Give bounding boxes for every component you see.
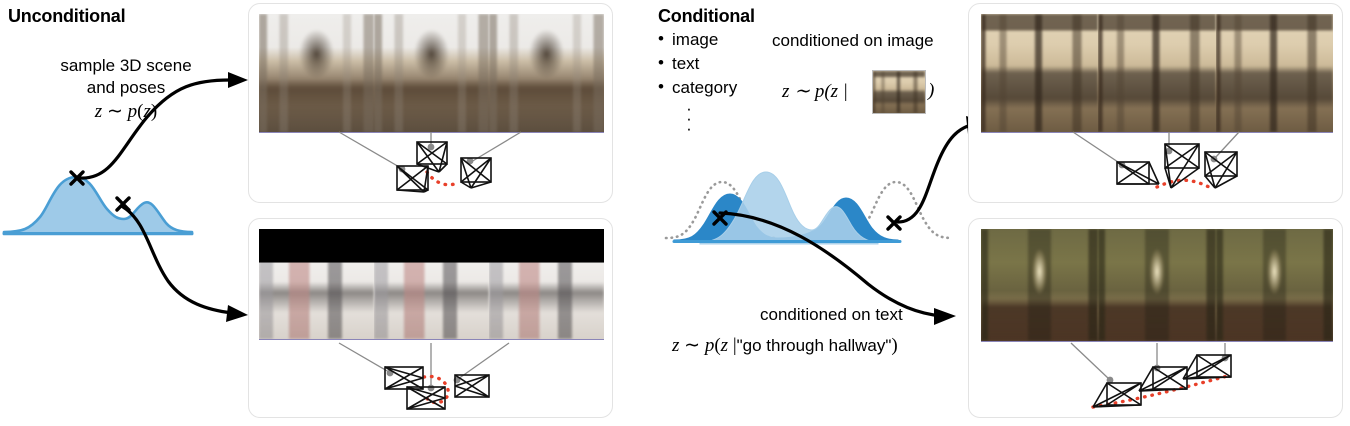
camera-frustum-3 xyxy=(1205,152,1237,188)
scene-top-left-strip xyxy=(259,14,604,133)
text-condition-caption: conditioned on text xyxy=(760,304,903,326)
render-frame-3 xyxy=(1216,14,1333,132)
text-formula-z: z xyxy=(672,335,679,356)
conditional-bullets: image text category xyxy=(658,28,778,100)
image-condition-caption: conditioned on image xyxy=(772,30,934,52)
conditional-heading: Conditional xyxy=(658,6,755,27)
image-formula-prefix: z ∼ p(z | xyxy=(782,81,848,102)
conditioning-image-thumbnail xyxy=(872,70,926,114)
scene-card-top-left xyxy=(248,3,613,203)
camera-frustum-1 xyxy=(397,166,428,192)
bullet-category: category xyxy=(658,76,778,100)
arrow-to-top-left-scene xyxy=(78,50,258,185)
camera-trajectory xyxy=(427,172,459,185)
text-formula-arg: z xyxy=(721,335,728,356)
text-formula-condition: "go through hallway" xyxy=(737,336,892,355)
render-frame-3 xyxy=(1216,229,1333,341)
text-condition-formula: z ∼ p(z |"go through hallway") xyxy=(672,334,898,357)
render-frame-2 xyxy=(374,14,489,132)
image-formula-close-paren: ) xyxy=(928,80,934,102)
arrow-to-bottom-left-scene xyxy=(120,205,260,325)
scene-card-top-right xyxy=(968,3,1343,203)
scene-bottom-right-strip xyxy=(981,229,1333,342)
scene-bottom-left-strip xyxy=(259,229,604,340)
scene-card-bottom-right xyxy=(968,218,1343,418)
camera-frustum-3 xyxy=(455,375,489,397)
bullet-image: image xyxy=(658,28,778,52)
camera-trajectory-top-right xyxy=(981,130,1333,198)
camera-trajectory-bottom-left xyxy=(259,339,604,415)
render-frame-1 xyxy=(259,14,374,132)
bullet-text: text xyxy=(658,52,778,76)
unconditional-heading: Unconditional xyxy=(8,6,125,27)
camera-trajectory-top-left xyxy=(259,130,604,198)
render-frame-2 xyxy=(1098,14,1215,132)
render-frame-3 xyxy=(489,14,604,132)
render-frame-1 xyxy=(981,229,1098,341)
render-frame-1 xyxy=(981,14,1098,132)
text-formula-close-paren: ) xyxy=(891,335,897,356)
render-frame-2 xyxy=(1098,229,1215,341)
image-condition-formula: z ∼ p(z | xyxy=(782,80,848,103)
scene-top-right-strip xyxy=(981,14,1333,133)
camera-trajectory xyxy=(1157,180,1211,188)
view-rays xyxy=(339,343,509,387)
bullet-ellipsis-icon: ··· xyxy=(678,104,700,134)
camera-frustum-3 xyxy=(461,158,491,188)
text-formula-p: p xyxy=(705,335,715,356)
text-formula-tilde: ∼ xyxy=(684,335,700,356)
scene-card-bottom-left xyxy=(248,218,613,418)
render-frame-3 xyxy=(489,229,604,339)
render-frame-1 xyxy=(259,229,374,339)
camera-frustum-2 xyxy=(407,387,445,409)
camera-trajectory-bottom-right xyxy=(981,341,1333,413)
camera-frustum-1 xyxy=(1117,162,1159,184)
render-frame-2 xyxy=(374,229,489,339)
camera-frustum-1 xyxy=(385,367,423,389)
